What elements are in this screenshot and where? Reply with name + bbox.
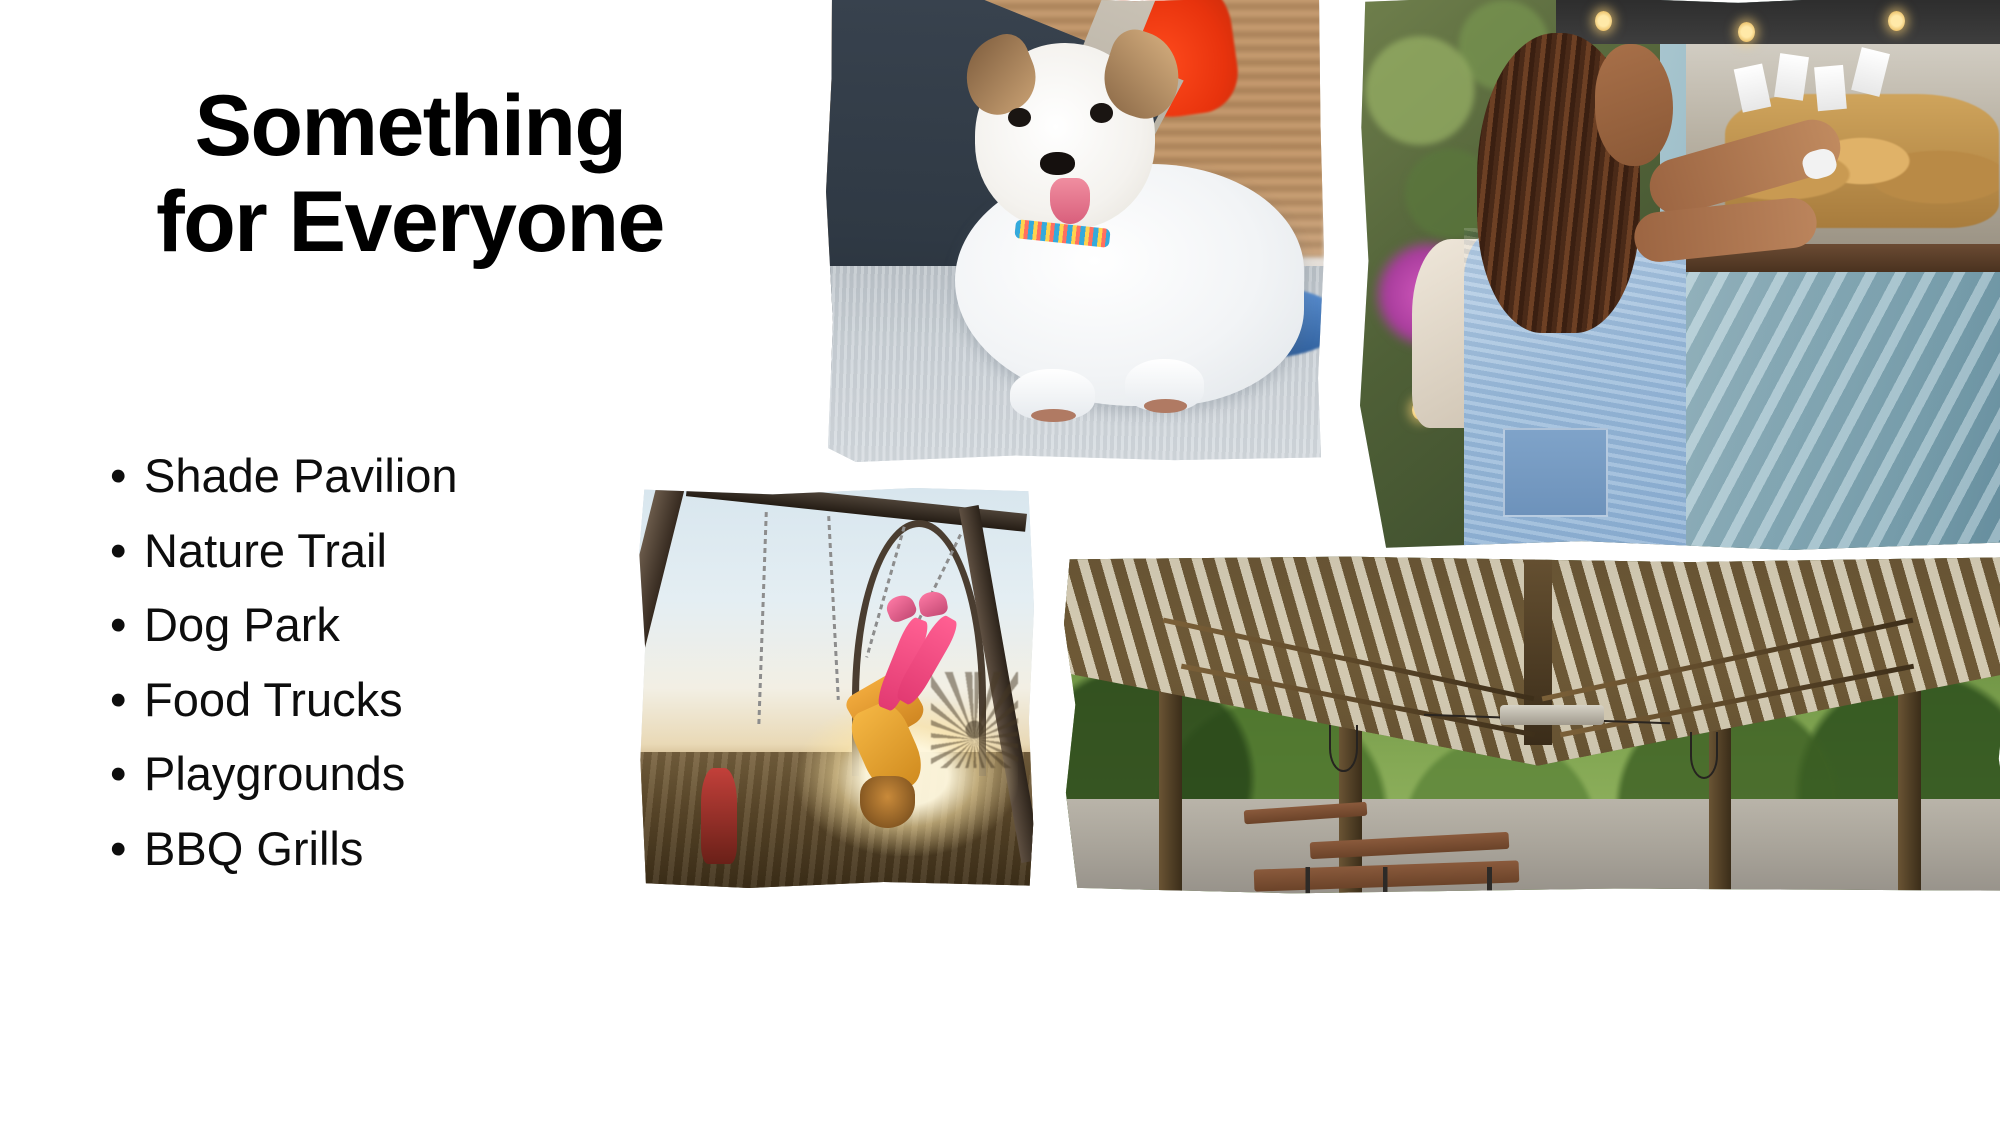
photo-string-light-bulb bbox=[1888, 11, 1905, 31]
photo-pavilion-floor bbox=[1064, 799, 2000, 894]
playground-swing-photo bbox=[638, 488, 1034, 888]
food-truck-photo bbox=[1360, 0, 2000, 550]
photo-bare-tree bbox=[931, 672, 1018, 768]
photo-pavilion-post bbox=[1898, 684, 1921, 894]
photo-canopy bbox=[1556, 0, 2000, 44]
dog-park-photo-scene bbox=[826, 0, 1324, 462]
photo-ceiling-hook bbox=[1329, 725, 1357, 772]
photo-dog-paw-left bbox=[1010, 369, 1095, 420]
photo-picnic-table-legs bbox=[1292, 867, 1520, 894]
photo-face bbox=[1595, 44, 1673, 166]
photo-dog-tongue bbox=[1050, 178, 1090, 225]
photo-dog-nose bbox=[1040, 152, 1075, 175]
dog-park-photo bbox=[826, 0, 1324, 462]
photo-dog-paw-right bbox=[1125, 359, 1205, 410]
food-truck-photo-scene bbox=[1360, 0, 2000, 550]
playground-swing-photo-scene bbox=[638, 488, 1034, 888]
shade-pavilion-photo bbox=[1064, 556, 2000, 894]
photo-dog-eye-left bbox=[1008, 108, 1031, 128]
photo-ceiling-hook bbox=[1690, 732, 1718, 779]
shade-pavilion-photo-scene bbox=[1064, 556, 2000, 894]
photo-string-light-bulb bbox=[1738, 22, 1755, 42]
photo-collage bbox=[0, 0, 2000, 1125]
photo-child-hair bbox=[860, 776, 915, 828]
photo-overalls-pocket bbox=[1503, 428, 1607, 517]
photo-price-tag bbox=[1815, 65, 1848, 112]
photo-dog-eye-right bbox=[1090, 103, 1113, 123]
photo-ceiling-fixture bbox=[1500, 705, 1604, 725]
photo-pavilion-post bbox=[1159, 684, 1182, 894]
slide-canvas: Something for Everyone • Shade Pavilion … bbox=[0, 0, 2000, 1125]
photo-string-light-bulb bbox=[1595, 11, 1612, 31]
photo-second-child bbox=[701, 768, 737, 864]
